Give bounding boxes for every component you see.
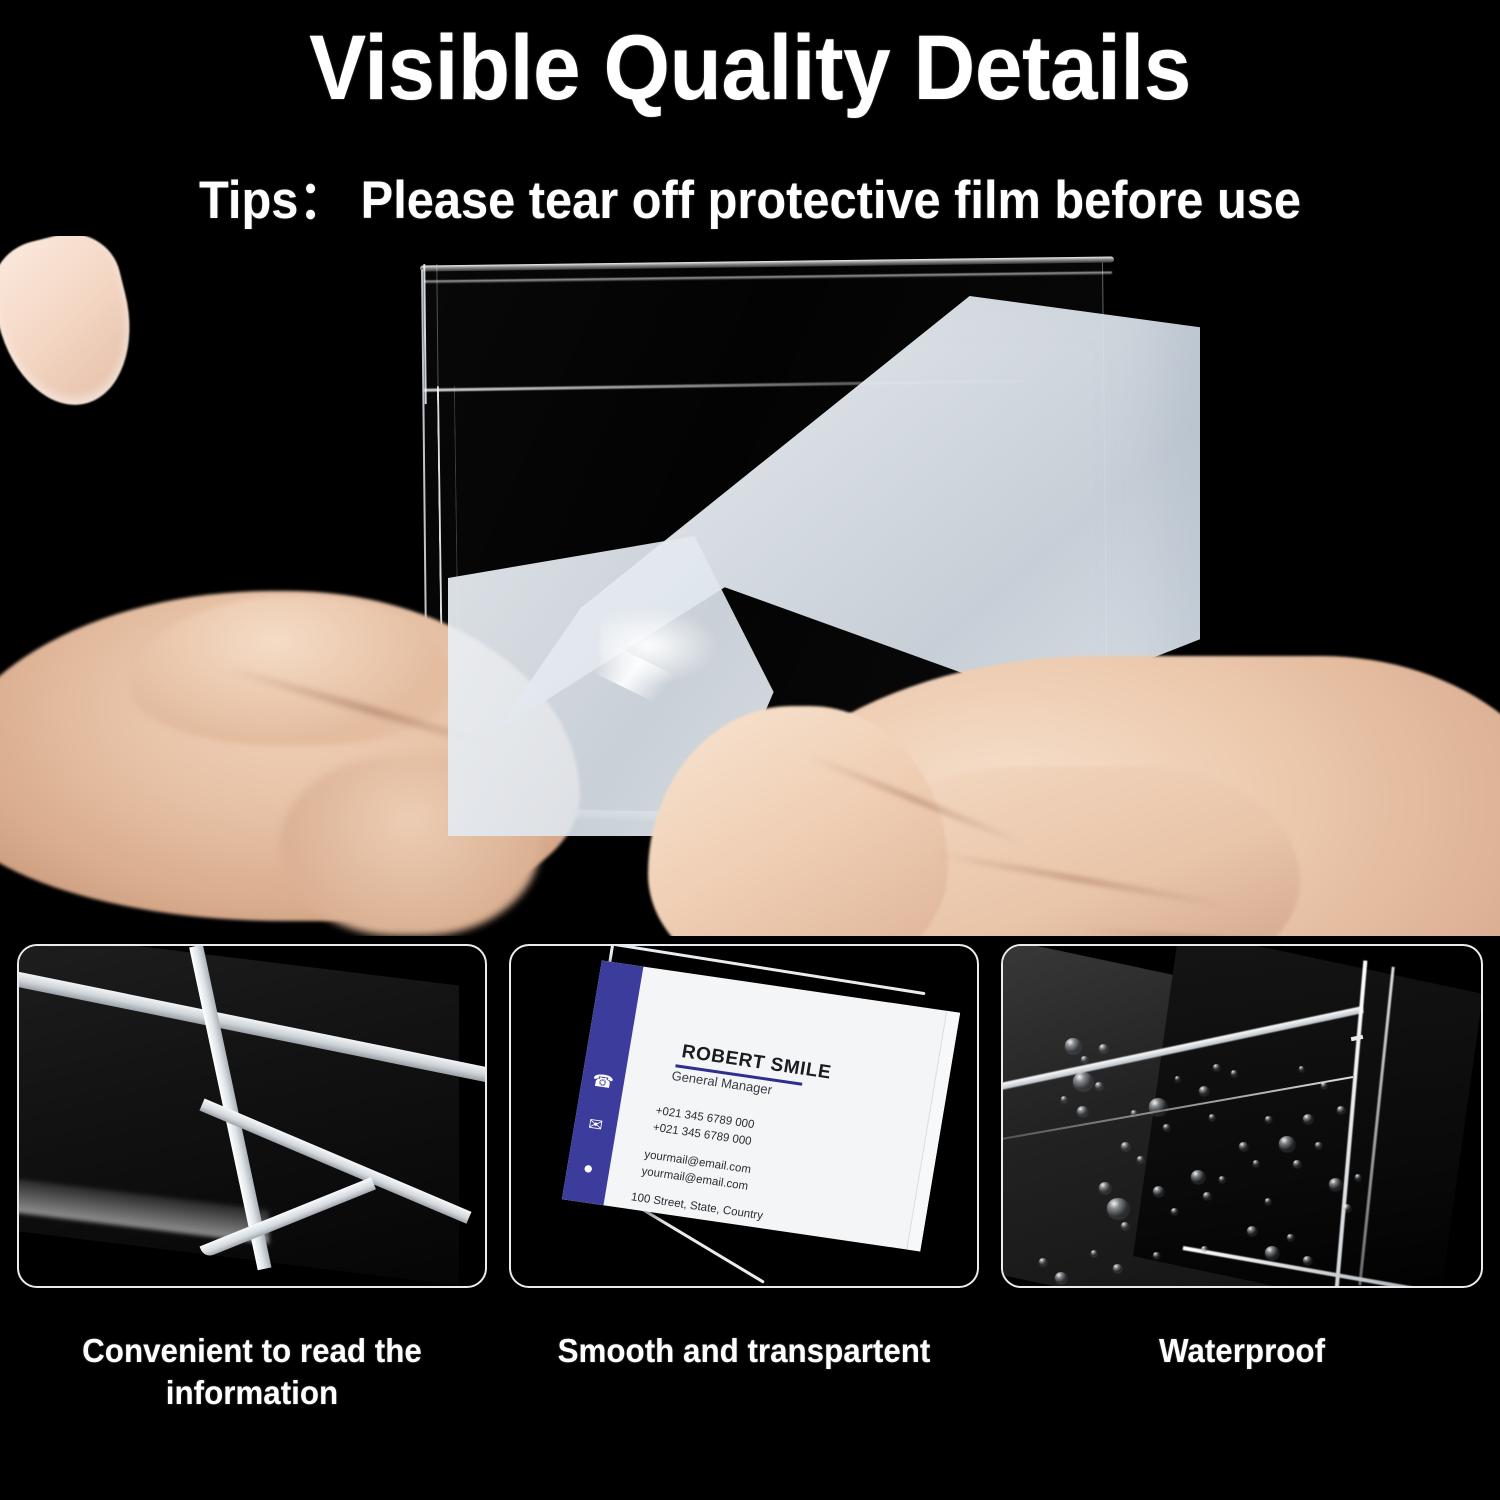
- water-droplet: [1153, 1186, 1164, 1196]
- caption-waterproof: Waterproof: [1013, 1330, 1471, 1372]
- water-droplet: [1355, 1174, 1361, 1180]
- panel-captions: Convenient to read the information Smoot…: [0, 1330, 1500, 1500]
- hero-image: [0, 236, 1500, 936]
- acrylic-lip-left-edge: [423, 264, 438, 404]
- water-droplet: [1061, 1096, 1067, 1102]
- water-droplet: [1175, 1076, 1180, 1081]
- protective-film-crease-spot: [600, 606, 720, 686]
- water-droplet: [1091, 1250, 1097, 1256]
- caption-convenient-line2: information: [166, 1374, 338, 1411]
- water-droplet: [1055, 1272, 1067, 1283]
- water-droplet: [1131, 1110, 1137, 1116]
- location-pin-icon: ●: [574, 1155, 602, 1182]
- page-title: Visible Quality Details: [53, 22, 1448, 114]
- water-droplet: [1077, 1106, 1088, 1116]
- caption-transparent: Smooth and transpartent: [521, 1330, 968, 1372]
- water-droplet: [1099, 1182, 1111, 1193]
- water-droplet: [1299, 1066, 1304, 1071]
- water-droplet: [1253, 1160, 1259, 1166]
- feature-panel-convenient: [17, 944, 487, 1288]
- tips-line: Tips： Please tear off protective film be…: [60, 158, 1440, 234]
- water-droplet: [1265, 1198, 1271, 1204]
- water-droplet: [1321, 1082, 1327, 1088]
- phone-icon: ☎: [589, 1068, 617, 1095]
- card-email: yourmail@email.com yourmail@email.com: [640, 1147, 752, 1195]
- water-droplet: [1065, 1038, 1081, 1053]
- caption-convenient-line1: Convenient to read the: [82, 1332, 422, 1369]
- header-block: Visible Quality Details Tips： Please tea…: [0, 0, 1500, 240]
- feature-panel-waterproof: [1001, 944, 1483, 1288]
- card-phone: +021 345 6789 000 +021 345 6789 000: [652, 1103, 756, 1150]
- water-droplet: [1279, 1136, 1295, 1151]
- water-droplet: [1219, 1176, 1225, 1182]
- water-droplet: [1149, 1098, 1167, 1115]
- water-droplet: [1265, 1246, 1279, 1259]
- water-droplet: [1209, 1114, 1215, 1120]
- water-droplet: [1191, 1170, 1205, 1183]
- caption-convenient: Convenient to read the information: [29, 1330, 476, 1414]
- card-body: ROBERT SMILE General Manager +021 345 67…: [603, 967, 960, 1252]
- fingernail: [0, 236, 149, 419]
- water-droplet: [1231, 1070, 1237, 1076]
- business-card: ☎ ✉ ● ROBERT SMILE General Manager +021 …: [562, 961, 960, 1252]
- mail-icon: ✉: [582, 1112, 610, 1139]
- water-droplet: [1329, 1178, 1342, 1190]
